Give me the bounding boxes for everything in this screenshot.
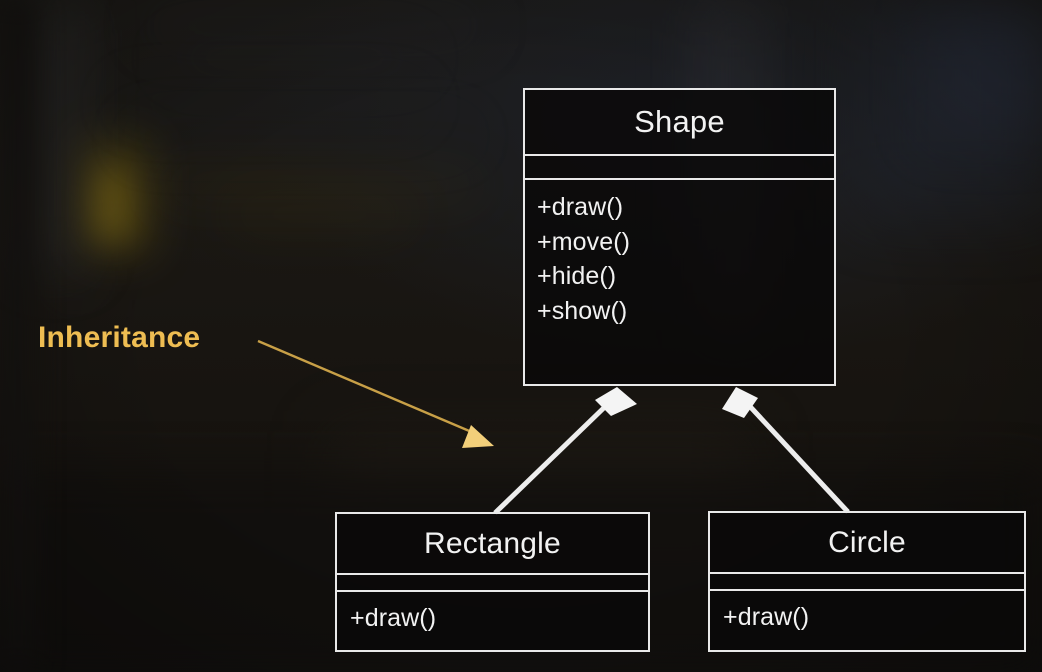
uml-operation: +draw() — [350, 601, 648, 635]
uml-operation: +draw() — [537, 190, 834, 225]
background-text-streak-5 — [160, 176, 480, 194]
background-light-column — [30, 0, 82, 268]
background-light-column-2 — [64, 0, 86, 300]
uml-class-shape[interactable]: Shape +draw() +move() +hide() +show() — [523, 88, 836, 386]
background-text-streak-1 — [150, 18, 480, 34]
generalization-arrowhead-circle — [722, 387, 758, 418]
uml-operation: +move() — [537, 225, 834, 260]
uml-class-shape-attributes — [525, 156, 834, 180]
uml-class-shape-operations: +draw() +move() +hide() +show() — [525, 180, 834, 328]
generalization-rectangle-to-shape — [495, 387, 637, 513]
uml-diagram-canvas: Shape +draw() +move() +hide() +show() Re… — [0, 0, 1042, 672]
inheritance-annotation-label: Inheritance — [38, 321, 200, 355]
uml-class-shape-title: Shape — [525, 90, 834, 156]
uml-class-circle-attributes — [710, 574, 1024, 591]
uml-class-rectangle-operations: +draw() — [337, 592, 648, 635]
uml-class-rectangle-attributes — [337, 575, 648, 592]
background-blue-glow — [860, 0, 1042, 210]
background-text-streak-6 — [230, 206, 410, 222]
background-yellow-smudge-2 — [96, 172, 126, 238]
background-text-streak-2 — [170, 52, 420, 64]
generalization-line-circle — [744, 400, 848, 512]
annotation-pointer-arrowhead — [462, 425, 494, 448]
background-text-streak-4 — [130, 130, 470, 142]
generalization-circle-to-shape — [722, 387, 848, 512]
uml-class-rectangle[interactable]: Rectangle +draw() — [335, 512, 650, 652]
uml-operation: +show() — [537, 294, 834, 329]
background-blue-glow-2 — [930, 14, 1042, 134]
uml-class-circle[interactable]: Circle +draw() — [708, 511, 1026, 652]
background-yellow-smudge — [86, 142, 148, 252]
uml-class-rectangle-title: Rectangle — [337, 514, 648, 575]
uml-operation: +hide() — [537, 259, 834, 294]
uml-class-circle-title: Circle — [710, 513, 1024, 574]
generalization-arrowhead-rectangle — [595, 387, 637, 416]
uml-operation: +draw() — [723, 600, 1024, 634]
uml-class-circle-operations: +draw() — [710, 591, 1024, 634]
generalization-line-rectangle — [495, 400, 612, 513]
background-text-streak-3 — [120, 96, 420, 110]
annotation-pointer-line — [258, 341, 474, 433]
annotation-pointer — [258, 341, 494, 448]
background-left-edge — [0, 0, 36, 672]
